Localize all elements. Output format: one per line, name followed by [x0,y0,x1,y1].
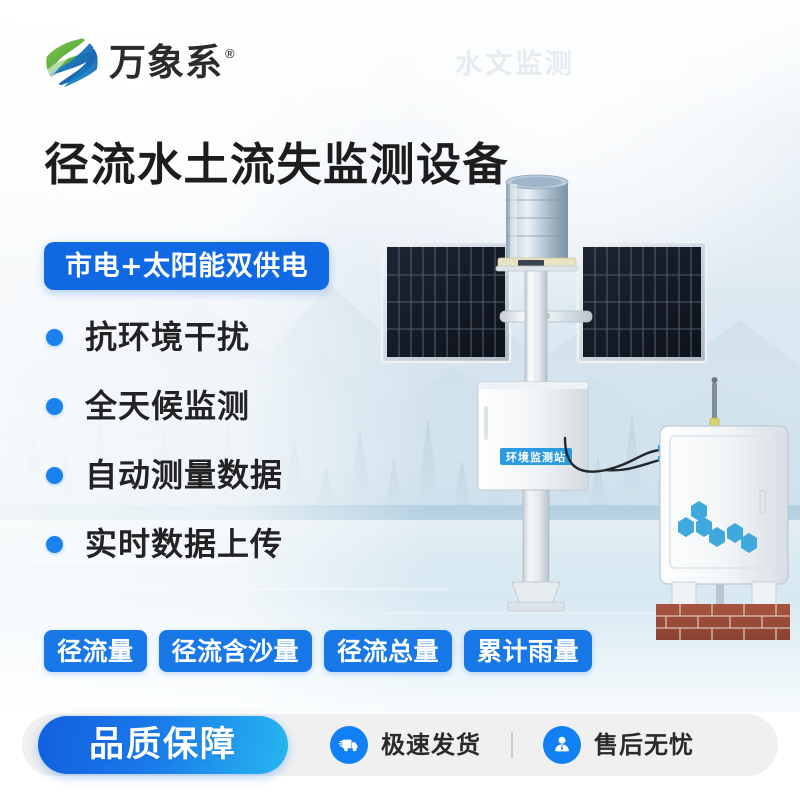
feature-list: 抗环境干扰 全天候监测 自动测量数据 实时数据上传 [46,316,386,592]
product-poster: 水文监测 [0,0,800,800]
solar-panel-left [382,242,510,362]
quality-guarantee-pill: 品质保障 [38,716,288,774]
page-title: 径流水土流失监测设备 [44,142,509,187]
customer-service-person-icon [543,726,581,764]
power-supply-badge: 市电+太阳能双供电 [44,242,329,290]
tag-sediment-content: 径流含沙量 [159,630,313,672]
tag-label: 径流量 [57,639,134,664]
feature-label: 自动测量数据 [85,459,283,491]
brick-base [656,604,790,640]
tag-cumulative-rainfall: 累计雨量 [464,630,592,672]
feature-label: 实时数据上传 [85,528,283,560]
service-item-list: 极速发货 售后无忧 [330,714,694,776]
feature-label: 抗环境干扰 [85,321,250,353]
pole-foot [508,490,564,611]
feature-item: 实时数据上传 [46,523,386,565]
measurement-tag-list: 径流量 径流含沙量 径流总量 累计雨量 [44,630,592,672]
blue-dot-icon [46,536,63,553]
background-watermark: 水文监测 [455,42,575,81]
feature-item: 自动测量数据 [46,454,386,496]
tag-runoff-volume: 径流量 [44,630,147,672]
service-label: 极速发货 [381,733,481,757]
blue-dot-icon [46,398,63,415]
power-supply-badge-label: 市电+太阳能双供电 [65,253,308,280]
delivery-truck-icon [330,726,368,764]
control-box: 环境监测站 [478,382,588,490]
quality-guarantee-label: 品质保障 [89,728,237,763]
data-cabinet [660,426,788,608]
equipment-illustration: 环境监测站 [360,170,800,640]
tag-label: 径流总量 [337,639,439,664]
service-after-sales: 售后无忧 [543,726,694,764]
control-box-label: 环境监测站 [506,450,566,464]
tag-total-runoff: 径流总量 [324,630,452,672]
brand-logo-row: 万象系 ® [44,34,235,90]
brand-name: 万象系 [109,44,223,81]
feature-item: 抗环境干扰 [46,316,386,358]
antenna [710,377,719,430]
service-fast-shipping: 极速发货 [330,726,481,764]
blue-dot-icon [46,467,63,484]
blue-dot-icon [46,329,63,346]
tag-label: 累计雨量 [477,639,579,664]
tag-label: 径流含沙量 [172,639,300,664]
registered-trademark-icon: ® [225,46,235,61]
solar-panel-right [578,242,706,362]
feature-item: 全天候监测 [46,385,386,427]
globe-swirl-logo-icon [44,34,100,90]
service-label: 售后无忧 [594,733,694,757]
feature-label: 全天候监测 [85,390,250,422]
service-divider [511,732,513,758]
